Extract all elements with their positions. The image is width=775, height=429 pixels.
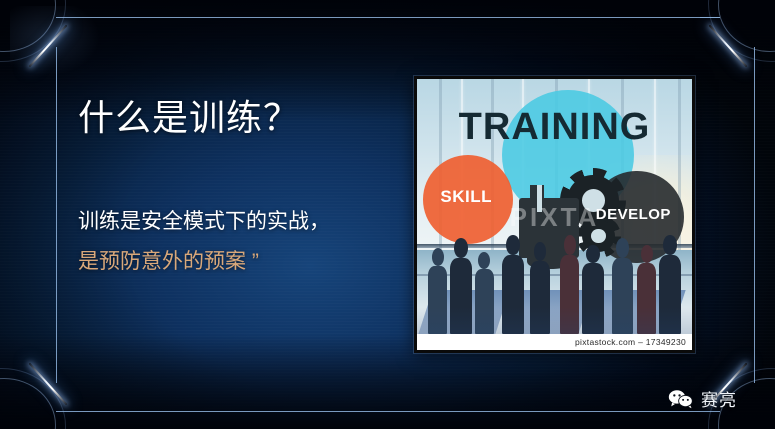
frame-line-top	[56, 17, 720, 18]
frame-line-right	[754, 47, 755, 383]
frame-line-top-right-stub	[700, 17, 720, 18]
slide-body-line-1: 训练是安全模式下的实战，	[78, 207, 330, 237]
training-photo-canvas: TRAINING SKILL DEVELOP PIXTA pixtastock.…	[417, 79, 692, 350]
frame-line-bottom	[56, 411, 720, 412]
wechat-branding: 赛亮	[668, 386, 737, 411]
training-photo: TRAINING SKILL DEVELOP PIXTA pixtastock.…	[414, 76, 695, 353]
photo-headline: TRAINING	[417, 106, 692, 149]
frame-line-left	[56, 47, 57, 383]
slide-title: 什么是训练？	[78, 95, 300, 141]
wechat-account-name: 赛亮	[701, 386, 737, 411]
wechat-icon	[668, 389, 694, 409]
photo-watermark-bar: pixtastock.com – 17349230	[417, 334, 692, 350]
presentation-slide: 什么是训练？ 训练是安全模式下的实战， 是预防意外的预案 ”	[0, 0, 775, 429]
photo-watermark-center: PIXTA	[478, 187, 632, 247]
photo-watermark-text: pixtastock.com – 17349230	[575, 337, 686, 347]
slide-body-line-2: 是预防意外的预案 ”	[78, 247, 259, 277]
